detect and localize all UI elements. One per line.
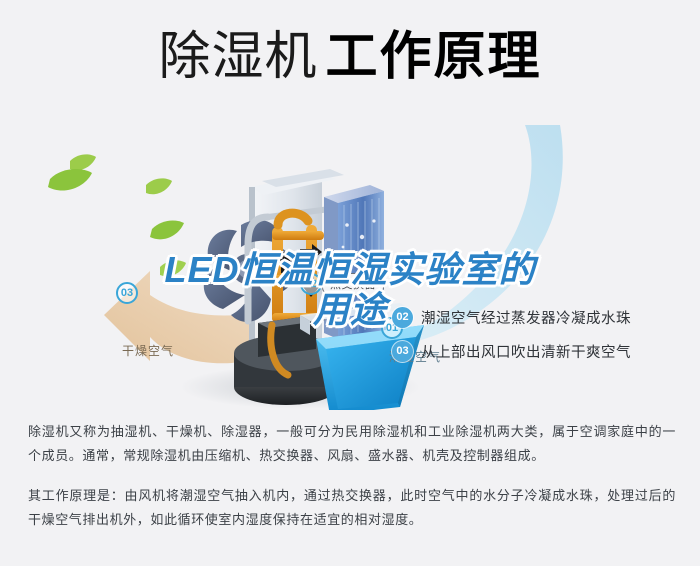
callout-heat-exchanger: 热交换器: [322, 273, 384, 296]
legend-badge-02: 02: [392, 307, 413, 328]
legend-list: 02 潮湿空气经过蒸发器冷凝成水珠 03 从上部出风口吹出清新干爽空气: [392, 300, 631, 368]
body-copy: 除湿机又称为抽湿机、干燥机、除湿器，一般可分为民用除湿机和工业除湿机两大类，属于…: [28, 420, 676, 532]
legend-text-02: 潮湿空气经过蒸发器冷凝成水珠: [421, 307, 631, 328]
legend-text-03: 从上部出风口吹出清新干爽空气: [421, 341, 631, 362]
legend-item: 03 从上部出风口吹出清新干爽空气: [392, 334, 631, 368]
label-dry-air: 干燥空气: [122, 342, 174, 359]
infographic-page: 除湿机工作原理: [0, 0, 700, 566]
title-segment-primary: 除湿机: [158, 28, 317, 86]
page-title: 除湿机工作原理: [0, 28, 700, 86]
badge-step-02: 02: [300, 273, 322, 295]
title-segment-secondary: 工作原理: [326, 28, 542, 86]
paragraph-2: 其工作原理是：由风机将潮湿空气抽入机内，通过热交换器，此时空气中的水分子冷凝成水…: [28, 484, 676, 532]
leaf-decorations: [48, 154, 186, 276]
badge-step-03: 03: [116, 282, 138, 304]
legend-badge-03: 03: [392, 341, 413, 362]
legend-item: 02 潮湿空气经过蒸发器冷凝成水珠: [392, 300, 631, 334]
paragraph-1: 除湿机又称为抽湿机、干燥机、除湿器，一般可分为民用除湿机和工业除湿机两大类，属于…: [28, 420, 676, 468]
